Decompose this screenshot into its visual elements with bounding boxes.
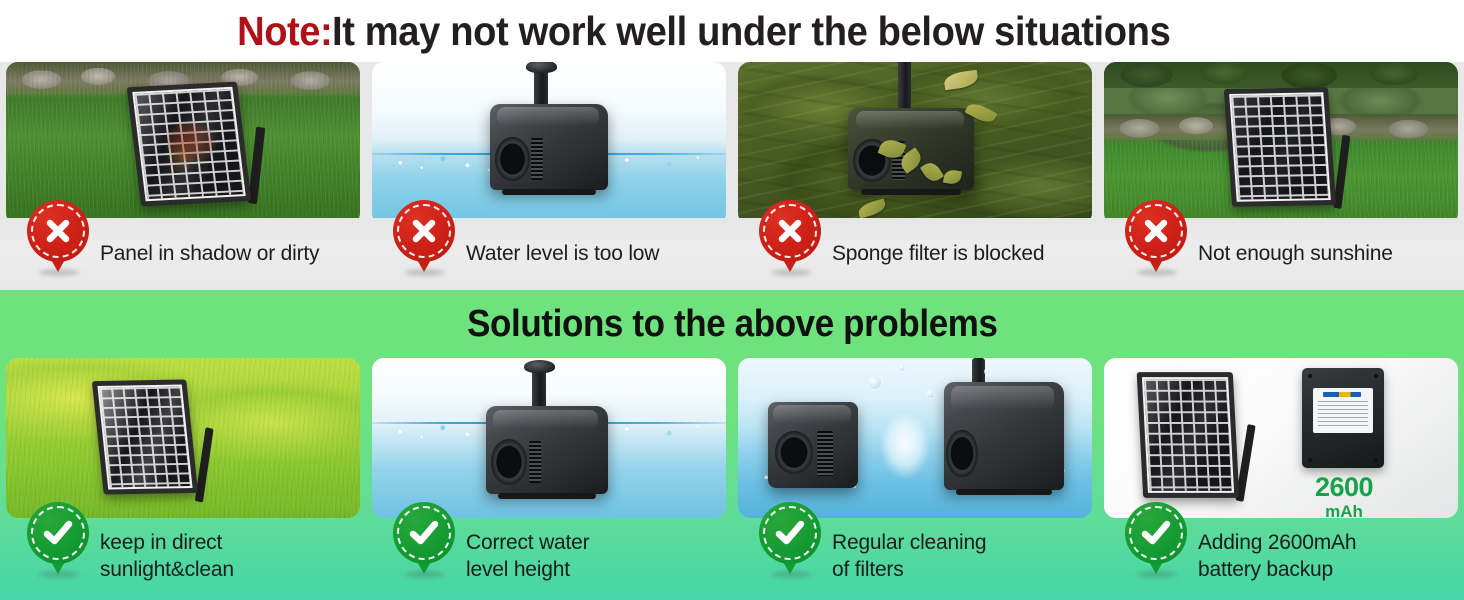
problem-card-no-sunshine[interactable]: Not enough sunshine: [1098, 62, 1464, 290]
pump-highlight: [773, 405, 850, 424]
pin-bubble: [1125, 200, 1187, 262]
battery-label-text-lines: [1318, 401, 1368, 430]
check-icon: [1139, 516, 1173, 550]
green-check-pin-icon: [393, 502, 455, 578]
pin-bubble: [393, 502, 455, 564]
pump-cover-graphic: [768, 402, 858, 488]
solution-card-direct-sunlight[interactable]: keep in direct sunlight&clean: [0, 358, 366, 600]
pump-graphic: [848, 108, 974, 190]
pump-vents: [531, 138, 543, 179]
problems-row: Panel in shadow or dirty: [0, 62, 1464, 290]
pump-nozzle-cap: [524, 360, 555, 373]
pin-bubble: [759, 502, 821, 564]
problem-caption: Water level is too low: [466, 218, 659, 290]
solar-panel-glass: [1229, 92, 1331, 201]
pump-highlight: [493, 410, 598, 429]
solution-card-correct-water-level[interactable]: Correct water level height: [366, 358, 732, 600]
solution-caption-line1: keep in direct: [100, 530, 234, 557]
pump-nozzle: [534, 68, 548, 108]
solutions-banner: Solutions to the above problems: [0, 290, 1464, 358]
scene-studio-white: 2600 mAh: [1104, 358, 1458, 518]
solar-panel-graphic: [1224, 87, 1336, 207]
green-check-pin-icon: [27, 502, 89, 578]
solar-panel-glass: [1142, 377, 1234, 493]
panel-glint: [1231, 94, 1328, 199]
solution-photo-direct-sunlight: [6, 358, 360, 518]
solar-panel-graphic: [1137, 372, 1240, 498]
panel-glint: [100, 387, 191, 488]
solution-caption: Adding 2600mAh battery backup: [1198, 514, 1356, 600]
solutions-row: keep in direct sunlight&clean: [0, 358, 1464, 600]
pump-intake: [495, 137, 530, 182]
pump-feet: [498, 493, 596, 499]
panel-glint: [1144, 379, 1232, 491]
problem-caption: Panel in shadow or dirty: [100, 218, 319, 290]
solar-panel-graphic: [92, 379, 198, 494]
check-icon: [407, 516, 441, 550]
red-cross-pin-icon: [393, 200, 455, 276]
green-check-pin-icon: [1125, 502, 1187, 578]
problem-card-filter-blocked[interactable]: Sponge filter is blocked: [732, 62, 1098, 290]
pump-feet: [861, 189, 962, 195]
scene-pump-cleaning: [738, 358, 1092, 518]
solution-photo-clean-filters: [738, 358, 1092, 518]
problem-caption: Not enough sunshine: [1198, 218, 1393, 290]
solution-caption-line2: level height: [466, 557, 589, 584]
cross-icon: [1140, 215, 1172, 247]
pin-bubble: [27, 200, 89, 262]
pin-bubble: [759, 200, 821, 262]
note-label: Note:: [237, 8, 332, 55]
solution-card-clean-filters[interactable]: Regular cleaning of filters: [732, 358, 1098, 600]
pump-intake: [946, 430, 977, 478]
problem-caption: Sponge filter is blocked: [832, 218, 1044, 290]
solution-caption-line2: of filters: [832, 557, 986, 584]
problem-card-low-water[interactable]: Water level is too low: [366, 62, 732, 290]
cross-icon: [774, 215, 806, 247]
solution-caption-line1: Correct water: [466, 530, 589, 557]
panel-glint: [134, 89, 243, 199]
solution-photo-correct-water-level: [372, 358, 726, 518]
solution-caption-line1: Regular cleaning: [832, 530, 986, 557]
solution-card-battery-backup[interactable]: 2600 mAh Adding 2600mAh battery backup: [1098, 358, 1464, 600]
check-icon: [773, 516, 807, 550]
pin-bubble: [1125, 502, 1187, 564]
cross-icon: [408, 215, 440, 247]
hedge-decor: [1104, 62, 1458, 88]
pump-vents: [817, 431, 833, 476]
battery-pack-graphic: [1302, 368, 1384, 468]
water-droplet: [898, 364, 906, 372]
problem-card-panel-dirty[interactable]: Panel in shadow or dirty: [0, 62, 366, 290]
battery-brand-mark: [1323, 392, 1361, 398]
solar-panel-glass: [132, 87, 246, 201]
pin-bubble: [27, 502, 89, 564]
solution-caption-line1: Adding 2600mAh: [1198, 530, 1356, 557]
solution-caption: Regular cleaning of filters: [832, 514, 986, 600]
problems-section: Panel in shadow or dirty: [0, 62, 1464, 290]
pump-feet: [956, 489, 1052, 495]
solar-panel-graphic: [127, 82, 252, 207]
pump-intake: [775, 431, 813, 474]
water-droplet: [926, 390, 935, 399]
battery-capacity-badge: 2600 mAh: [1300, 474, 1388, 518]
pump-highlight: [856, 111, 964, 129]
red-cross-pin-icon: [27, 200, 89, 276]
cross-icon: [42, 215, 74, 247]
check-icon: [41, 516, 75, 550]
scene-water-correct-level: [372, 358, 726, 518]
red-cross-pin-icon: [759, 200, 821, 276]
solution-caption: keep in direct sunlight&clean: [100, 514, 234, 600]
pump-nozzle: [898, 62, 911, 112]
water-droplet: [868, 376, 882, 390]
pump-graphic: [944, 382, 1064, 490]
pump-feet: [502, 189, 596, 195]
solutions-section: keep in direct sunlight&clean: [0, 358, 1464, 600]
solution-photo-battery-backup: 2600 mAh: [1104, 358, 1458, 518]
pump-graphic: [490, 104, 608, 190]
solution-caption-line2: battery backup: [1198, 557, 1356, 584]
pump-highlight: [951, 386, 1054, 410]
pump-nozzle-cap: [526, 62, 557, 73]
battery-label: [1313, 388, 1372, 433]
battery-capacity-value: 2600: [1300, 474, 1388, 501]
pin-bubble: [393, 200, 455, 262]
solar-panel-glass: [97, 385, 192, 490]
pump-vents: [529, 441, 541, 483]
page-title: Note:It may not work well under the belo…: [0, 0, 1464, 62]
solution-caption: Correct water level height: [466, 514, 589, 600]
water-droplet: [984, 368, 991, 375]
pump-highlight: [497, 107, 598, 126]
scene-sunny-lawn: [6, 358, 360, 518]
pump-graphic: [486, 406, 608, 494]
red-cross-pin-icon: [1125, 200, 1187, 276]
water-splash: [866, 392, 944, 496]
pump-nozzle: [532, 368, 546, 410]
note-title-text: It may not work well under the below sit…: [332, 8, 1170, 55]
solutions-banner-title: Solutions to the above problems: [467, 303, 998, 346]
solution-caption-line2: sunlight&clean: [100, 557, 234, 584]
green-check-pin-icon: [759, 502, 821, 578]
